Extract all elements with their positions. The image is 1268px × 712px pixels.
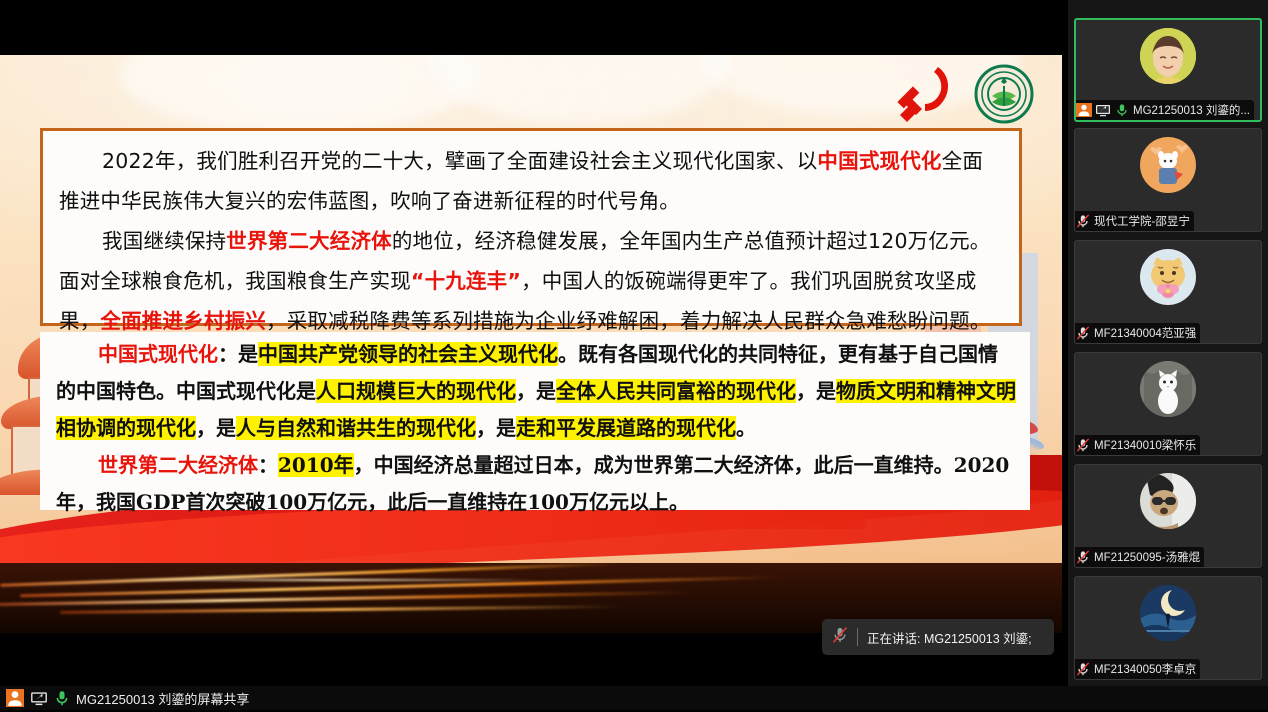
participant-video-strip[interactable]: MG21250013 刘鎏的... bbox=[1068, 0, 1268, 710]
slide-bottom-textbox: 中国式现代化：是中国共产党领导的社会主义现代化。既有各国现代化的共同特征，更有基… bbox=[40, 332, 1030, 510]
avatar bbox=[1140, 249, 1196, 305]
p2-highlight-1: 世界第二大经济体 bbox=[226, 229, 392, 253]
participant-namebar: MF21340050李卓京 bbox=[1075, 659, 1200, 679]
participant-tile[interactable]: MF21340050李卓京 bbox=[1074, 576, 1262, 680]
mic-muted-icon bbox=[832, 626, 848, 649]
screen-share-icon bbox=[30, 690, 48, 706]
def1-seg4: ，是 bbox=[196, 416, 236, 440]
def1-seg2: ，是 bbox=[516, 379, 556, 403]
avatar bbox=[1140, 361, 1196, 417]
participant-namebar: MF21250095-汤雅焜 bbox=[1075, 547, 1204, 567]
microphone-icon bbox=[1114, 103, 1130, 117]
mic-muted-icon bbox=[1075, 326, 1091, 340]
avatar bbox=[1140, 585, 1196, 641]
cloud-decoration bbox=[430, 55, 730, 125]
def2-highlight-1: 2010年 bbox=[278, 453, 354, 477]
screen-share-label: MG21250013 刘鎏的屏幕共享 bbox=[76, 689, 249, 708]
p2-highlight-2: “十九连丰” bbox=[411, 269, 521, 293]
slide-logos bbox=[892, 63, 1034, 125]
person-icon bbox=[1076, 103, 1092, 117]
cpc-emblem-icon bbox=[892, 63, 958, 125]
def1-highlight-5: 人与自然和谐共生的现代化 bbox=[236, 416, 476, 440]
definition-1: 中国式现代化：是中国共产党领导的社会主义现代化。既有各国现代化的共同特征，更有基… bbox=[56, 336, 1016, 447]
p1-highlight-1: 中国式现代化 bbox=[817, 149, 941, 173]
screen-share-status-bar: MG21250013 刘鎏的屏幕共享 bbox=[0, 686, 1268, 710]
mic-muted-icon bbox=[1075, 662, 1091, 676]
def2-colon: ： bbox=[258, 453, 278, 477]
avatar bbox=[1140, 28, 1196, 84]
avatar bbox=[1140, 137, 1196, 193]
p1-seg1: 2022年，我们胜利召开党的二十大，擘画了全面建设社会主义现代化国家、以 bbox=[102, 149, 817, 173]
cloud-decoration bbox=[120, 55, 480, 135]
def1-seg3: ，是 bbox=[796, 379, 836, 403]
participant-tile[interactable]: MF21340004范亚强 bbox=[1074, 240, 1262, 344]
toast-divider bbox=[857, 628, 858, 646]
participant-namebar: MG21250013 刘鎏的... bbox=[1076, 100, 1254, 120]
active-speaker-text: 正在讲话: MG21250013 刘鎏; bbox=[867, 628, 1032, 647]
participant-name: MF21340050李卓京 bbox=[1094, 661, 1196, 677]
zoom-meeting-window: 2022年，我们胜利召开党的二十大，擘画了全面建设社会主义现代化国家、以中国式现… bbox=[0, 0, 1268, 710]
def1-seg6: 。 bbox=[736, 416, 756, 440]
screen-share-icon bbox=[1095, 103, 1111, 117]
def1-seg5: ，是 bbox=[476, 416, 516, 440]
mic-muted-icon bbox=[1075, 214, 1091, 228]
paragraph-1: 2022年，我们胜利召开党的二十大，擘画了全面建设社会主义现代化国家、以中国式现… bbox=[59, 141, 1003, 221]
participant-namebar: MF21340010梁怀乐 bbox=[1075, 435, 1200, 455]
participant-tile[interactable]: 现代工学院-邵昱宁 bbox=[1074, 128, 1262, 232]
def1-colon: ：是 bbox=[218, 342, 258, 366]
participant-tile[interactable]: MF21250095-汤雅焜 bbox=[1074, 464, 1262, 568]
p2-highlight-3: 全面推进乡村振兴 bbox=[100, 309, 266, 333]
p2-seg4: ，采取减税降费等系列措施为企业纾难解困，着力解决人民群众急难愁盼问题。 bbox=[266, 309, 991, 333]
person-icon bbox=[6, 689, 24, 707]
def1-highlight-1: 中国共产党领导的社会主义现代化 bbox=[258, 342, 558, 366]
participant-namebar: 现代工学院-邵昱宁 bbox=[1075, 211, 1194, 231]
active-speaker-toast: 正在讲话: MG21250013 刘鎏; bbox=[822, 619, 1054, 655]
avatar bbox=[1140, 473, 1196, 529]
participant-namebar: MF21340004范亚强 bbox=[1075, 323, 1200, 343]
slide-top-textbox: 2022年，我们胜利召开党的二十大，擘画了全面建设社会主义现代化国家、以中国式现… bbox=[40, 128, 1022, 326]
def1-term: 中国式现代化 bbox=[98, 342, 218, 366]
participant-tile[interactable]: MG21250013 刘鎏的... bbox=[1074, 18, 1262, 122]
presentation-slide: 2022年，我们胜利召开党的二十大，擘画了全面建设社会主义现代化国家、以中国式现… bbox=[0, 55, 1062, 633]
definition-2: 世界第二大经济体：2010年，中国经济总量超过日本，成为世界第二大经济体，此后一… bbox=[56, 447, 1016, 521]
p2-seg1: 我国继续保持 bbox=[102, 229, 226, 253]
def1-highlight-3: 全体人民共同富裕的现代化 bbox=[556, 379, 796, 403]
participant-name: MF21340004范亚强 bbox=[1094, 325, 1196, 341]
paragraph-2: 我国继续保持世界第二大经济体的地位，经济稳健发展，全年国内生产总值预计超过120… bbox=[59, 221, 1003, 341]
mic-muted-icon bbox=[1075, 438, 1091, 452]
participant-name: MF21340010梁怀乐 bbox=[1094, 437, 1196, 453]
university-emblem-icon bbox=[974, 64, 1034, 124]
mic-muted-icon bbox=[1075, 550, 1091, 564]
microphone-icon bbox=[54, 689, 70, 707]
participant-name: MF21250095-汤雅焜 bbox=[1094, 549, 1200, 565]
participant-name: MG21250013 刘鎏的... bbox=[1133, 102, 1250, 118]
participant-tile[interactable]: MF21340010梁怀乐 bbox=[1074, 352, 1262, 456]
participant-name: 现代工学院-邵昱宁 bbox=[1094, 213, 1190, 229]
def1-highlight-6: 走和平发展道路的现代化 bbox=[516, 416, 736, 440]
def2-term: 世界第二大经济体 bbox=[98, 453, 258, 477]
shared-screen-area[interactable]: 2022年，我们胜利召开党的二十大，擘画了全面建设社会主义现代化国家、以中国式现… bbox=[0, 0, 1062, 686]
def1-highlight-2: 人口规模巨大的现代化 bbox=[316, 379, 516, 403]
